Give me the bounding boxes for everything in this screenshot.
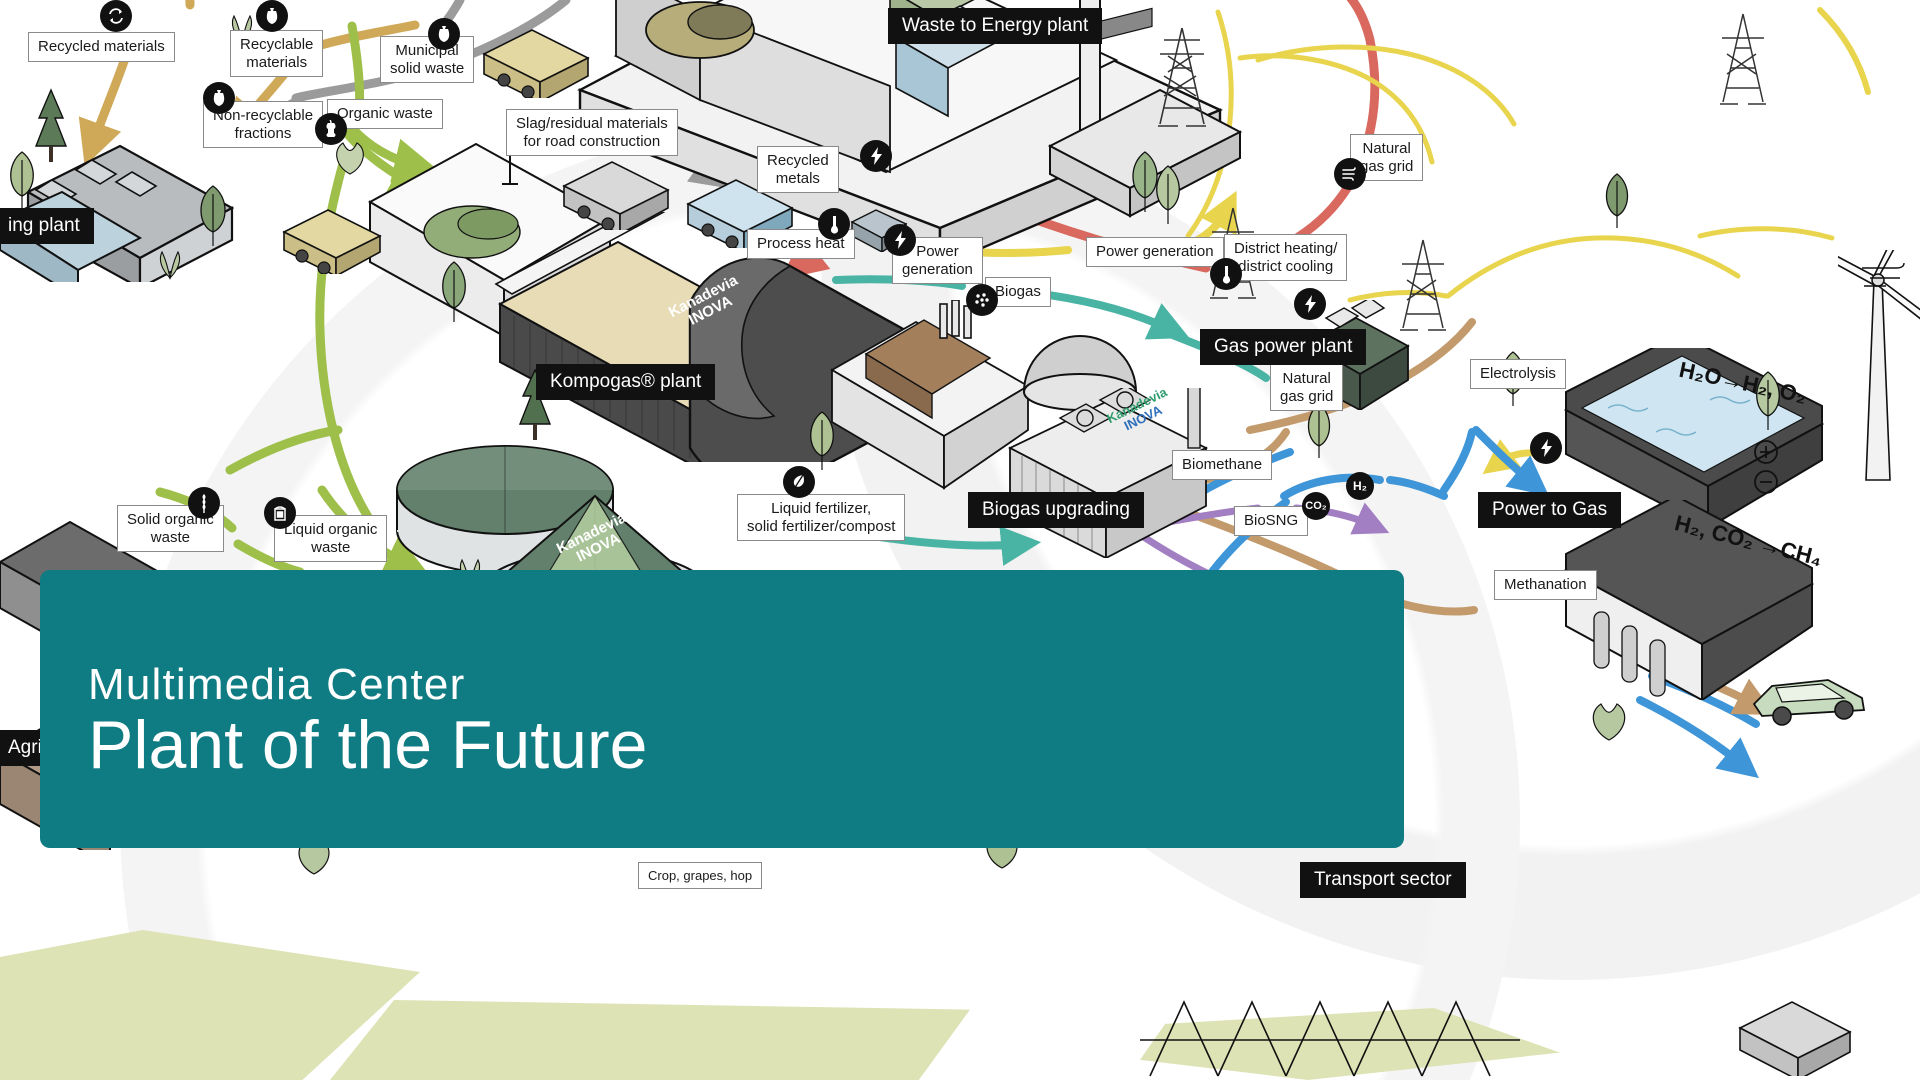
shrub-4 [330,140,370,181]
label-slag-residual-materials: Slag/residual materials for road constru… [506,109,678,156]
tree-leaf-1 [6,150,38,217]
lightning-icon-wte [860,140,892,172]
waste-bag-icon-2 [428,18,460,50]
label-waste-to-energy-plant: Waste to Energy plant [888,8,1102,44]
label-sorting-plant: ing plant [0,208,94,244]
plant-of-the-future-diagram: Kanadevia INOVA Kanadevia INOVA [0,0,1920,1080]
shrub-3 [1586,700,1632,747]
banner-title: Plant of the Future [88,710,1404,781]
tree-leaf-4 [806,410,838,477]
label-district-heating-cooling: District heating/ district cooling [1224,234,1347,281]
waste-bag-icon-3 [203,82,235,114]
co2-icon: CO₂ [1302,492,1330,520]
multimedia-center-banner: Multimedia Center Plant of the Future [40,570,1404,848]
label-methanation: Methanation [1494,570,1597,600]
tree-conifer-1 [34,88,68,169]
tree-leaf-7 [1304,402,1334,465]
grass-tuft-4 [1860,260,1920,295]
leaf-icon-fertilizer [783,466,815,498]
recycle-icon [100,0,132,32]
banner-kicker: Multimedia Center [88,662,1404,708]
label-crop-grapes-hop: Crop, grapes, hop [638,862,762,889]
tree-leaf-8 [1602,172,1632,235]
grass-tuft-2 [150,250,190,285]
label-electrolysis: Electrolysis [1470,359,1566,389]
label-power-generation-right: Power generation [1086,237,1224,267]
label-gas-power-plant: Gas power plant [1200,329,1366,365]
label-biomethane: Biomethane [1172,450,1272,480]
wheat-icon [188,487,220,519]
thermometer-icon-district-heat [1210,258,1242,290]
tree-leaf-6 [1152,164,1184,231]
label-transport-sector: Transport sector [1300,862,1466,898]
hydrogen-label: H₂ [1353,480,1367,492]
truck-yellow-top [470,28,600,98]
apple-core-icon [315,113,347,145]
truck-transport-bottom [1724,1000,1864,1076]
tree-leaf-2 [196,184,230,253]
label-municipal-solid-waste: Municipal solid waste [380,36,474,83]
electric-car [1746,668,1876,732]
pylon-left [1152,24,1212,134]
truck-grey-tipper [550,160,680,230]
lightning-icon-gas-power [1294,288,1326,320]
label-biogas-upgrading: Biogas upgrading [968,492,1144,528]
pylon-far-right [1396,236,1450,336]
label-power-to-gas: Power to Gas [1478,492,1621,528]
label-kompogas-plant: Kompogas® plant [536,364,715,400]
pylon-top-right [1716,10,1770,110]
hydrogen-icon: H₂ [1346,472,1374,500]
label-recyclable-materials: Recyclable materials [230,30,323,77]
gas-molecules-icon [966,284,998,316]
gas-flow-icon [1334,158,1366,190]
liquid-container-icon [264,497,296,529]
co2-label: CO₂ [1305,501,1326,512]
lightning-icon-power-gen-left [884,224,916,256]
waste-bag-icon [256,0,288,32]
truck-yellow-collection [272,208,392,274]
label-biosng: BioSNG [1234,506,1308,536]
thermometer-icon-process-heat [818,208,850,240]
label-natural-gas-grid-right: Natural gas grid [1270,364,1343,411]
label-liquid-solid-fertilizer: Liquid fertilizer, solid fertilizer/comp… [737,494,905,541]
greenhouse-frames [1130,990,1550,1080]
tree-leaf-3 [438,260,470,329]
label-recycled-metals: Recycled metals [757,146,839,193]
label-recycled-materials: Recycled materials [28,32,175,62]
lightning-icon-power-to-gas [1530,432,1562,464]
